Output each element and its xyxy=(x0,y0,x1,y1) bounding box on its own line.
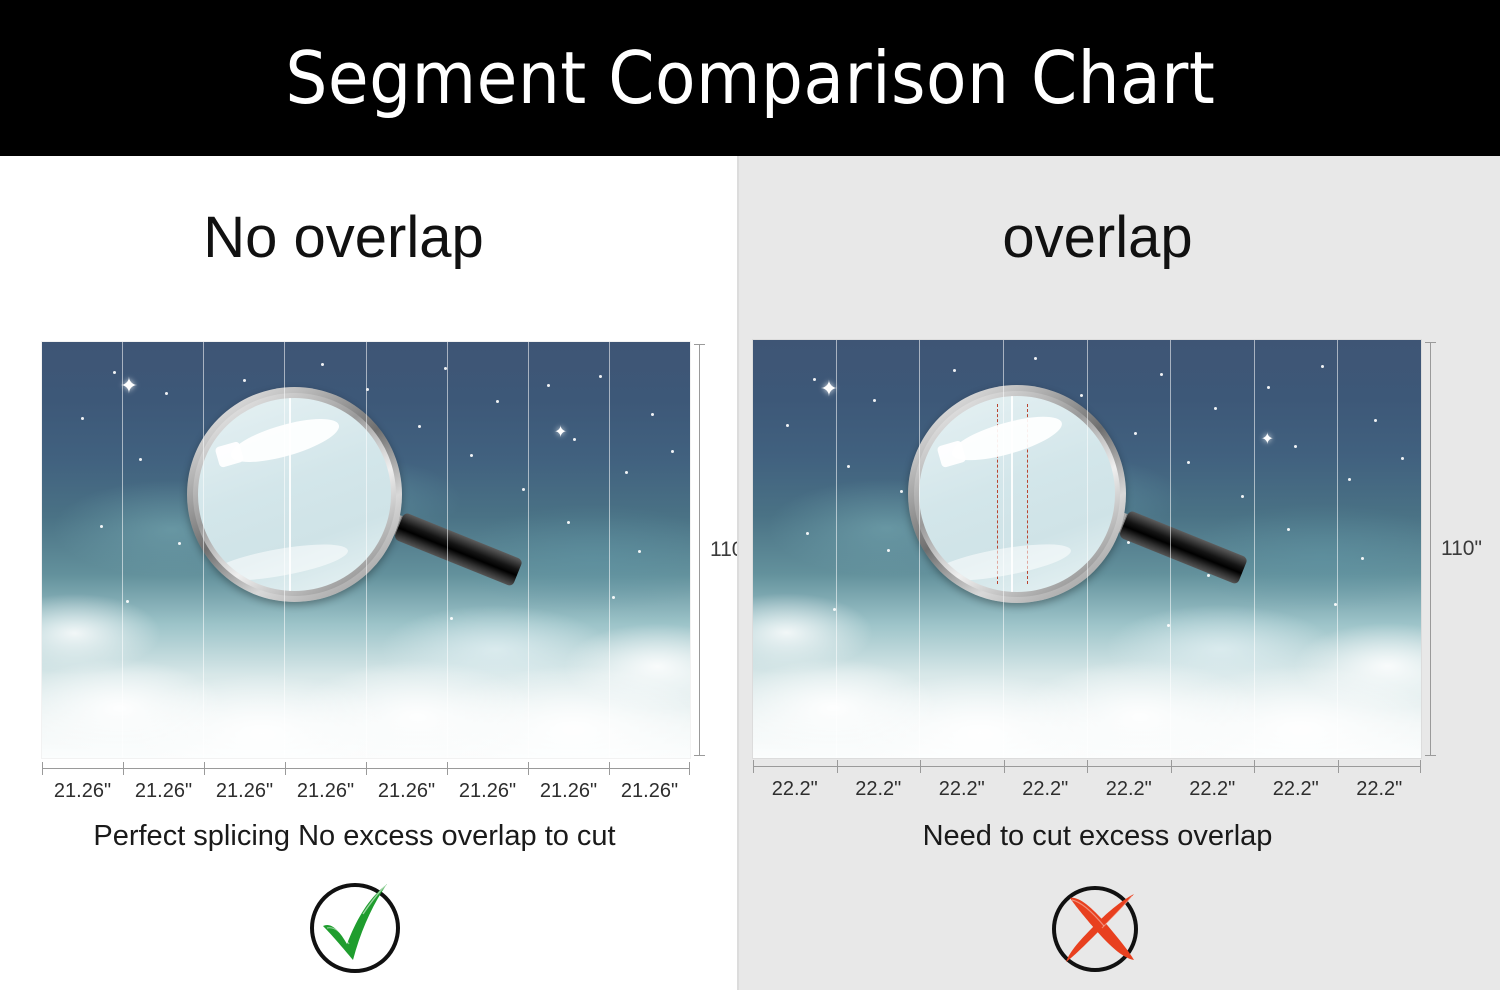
title-banner: Segment Comparison Chart xyxy=(0,0,1500,156)
height-dimension-line-right xyxy=(1430,342,1431,756)
segment-label: 21.26" xyxy=(285,780,366,803)
mural-image-overlap: ✦ ✦ xyxy=(753,340,1421,758)
mural-segment xyxy=(1255,340,1339,758)
segment-label: 22.2" xyxy=(920,778,1004,801)
mural-segment xyxy=(123,342,204,758)
segment-label: 22.2" xyxy=(1004,778,1088,801)
panel-seam-lines xyxy=(753,340,1421,758)
mural-segment xyxy=(1171,340,1255,758)
comparison-panels: No overlap xyxy=(0,156,1500,990)
segment-label: 21.26" xyxy=(366,780,447,803)
panel-heading-overlap: overlap xyxy=(717,204,1478,271)
mural-segment xyxy=(920,340,1004,758)
dimension-tick xyxy=(753,766,837,767)
dimension-tick xyxy=(285,768,366,769)
segment-label: 22.2" xyxy=(1171,778,1255,801)
dimension-tick xyxy=(920,766,1004,767)
dimension-tick xyxy=(1254,766,1338,767)
segment-labels-right: 22.2" 22.2" 22.2" 22.2" 22.2" 22.2" 22.2… xyxy=(753,778,1421,801)
dimension-tick xyxy=(447,768,528,769)
segment-label: 21.26" xyxy=(528,780,609,803)
height-dimension-line-left xyxy=(699,344,700,756)
segment-dimension-line-right xyxy=(753,766,1421,767)
dimension-tick xyxy=(528,768,609,769)
segment-label: 21.26" xyxy=(42,780,123,803)
mural-segment xyxy=(42,342,123,758)
caption-overlap: Need to cut excess overlap xyxy=(717,820,1478,853)
dimension-tick xyxy=(1171,766,1255,767)
segment-label: 22.2" xyxy=(1254,778,1338,801)
dimension-tick xyxy=(1087,766,1171,767)
panel-seam-lines xyxy=(42,342,690,758)
verdict-no-overlap xyxy=(0,874,723,978)
mural-segment xyxy=(204,342,285,758)
dimension-tick xyxy=(42,768,123,769)
dimension-tick xyxy=(609,768,690,769)
height-label-right: 110" xyxy=(1441,537,1482,561)
verdict-overlap xyxy=(717,874,1478,978)
panel-heading-no-overlap: No overlap xyxy=(0,204,712,271)
mural-segment xyxy=(1088,340,1172,758)
mural-segment xyxy=(285,342,366,758)
segment-label: 21.26" xyxy=(204,780,285,803)
panel-no-overlap: No overlap xyxy=(0,156,737,990)
mural-overlap: ✦ ✦ xyxy=(753,340,1421,758)
dimension-tick xyxy=(366,768,447,769)
dimension-tick xyxy=(837,766,921,767)
segment-label: 22.2" xyxy=(1338,778,1422,801)
mural-segment xyxy=(610,342,690,758)
segment-dimension-line-left xyxy=(42,768,690,769)
caption-no-overlap: Perfect splicing No excess overlap to cu… xyxy=(0,820,723,853)
mural-image-no-overlap: ✦ ✦ xyxy=(42,342,690,758)
mural-segment xyxy=(753,340,837,758)
red-cross-icon xyxy=(1046,874,1150,978)
segment-label: 21.26" xyxy=(609,780,690,803)
segment-label: 22.2" xyxy=(1087,778,1171,801)
segment-labels-left: 21.26" 21.26" 21.26" 21.26" 21.26" 21.26… xyxy=(42,780,690,803)
mural-segment xyxy=(837,340,921,758)
mural-segment xyxy=(367,342,448,758)
mural-segment xyxy=(1004,340,1088,758)
segment-label: 22.2" xyxy=(837,778,921,801)
dimension-tick xyxy=(123,768,204,769)
green-check-icon xyxy=(303,874,407,978)
mural-segment xyxy=(529,342,610,758)
segment-label: 21.26" xyxy=(447,780,528,803)
segment-label: 21.26" xyxy=(123,780,204,803)
dimension-tick xyxy=(1338,766,1422,767)
segment-label: 22.2" xyxy=(753,778,837,801)
mural-segment xyxy=(1338,340,1421,758)
mural-no-overlap: ✦ ✦ xyxy=(42,342,690,758)
segment-comparison-page: Segment Comparison Chart No overlap xyxy=(0,0,1500,990)
dimension-tick xyxy=(204,768,285,769)
dimension-tick xyxy=(1004,766,1088,767)
panel-overlap: overlap xyxy=(737,156,1500,990)
page-title: Segment Comparison Chart xyxy=(285,36,1215,120)
mural-segment xyxy=(448,342,529,758)
